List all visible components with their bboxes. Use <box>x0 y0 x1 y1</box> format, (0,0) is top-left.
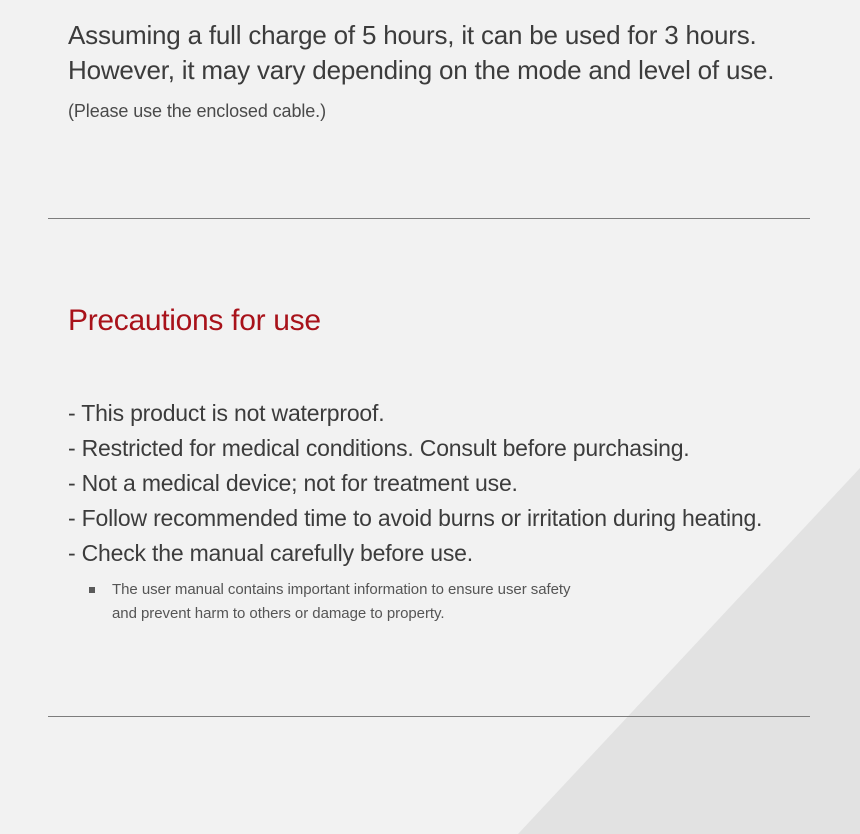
intro-paragraph: Assuming a full charge of 5 hours, it ca… <box>68 18 828 124</box>
list-item: - Check the manual carefully before use. <box>68 536 848 571</box>
list-item: - Follow recommended time to avoid burns… <box>68 501 848 536</box>
intro-note: (Please use the enclosed cable.) <box>68 98 828 124</box>
intro-line-1: Assuming a full charge of 5 hours, it ca… <box>68 18 828 53</box>
manual-page: Assuming a full charge of 5 hours, it ca… <box>0 0 860 834</box>
list-item: - This product is not waterproof. <box>68 396 848 431</box>
subnote-text: The user manual contains important infor… <box>112 578 571 626</box>
intro-line-2: However, it may vary depending on the mo… <box>68 53 828 88</box>
divider-bottom <box>48 716 810 717</box>
divider-top <box>48 218 810 219</box>
subnote-line-1: The user manual contains important infor… <box>112 578 571 602</box>
precaution-list: - This product is not waterproof. - Rest… <box>68 396 848 571</box>
manual-subnote: The user manual contains important infor… <box>89 578 689 626</box>
page-title: Precautions for use <box>68 301 321 341</box>
subnote-line-2: and prevent harm to others or damage to … <box>112 602 571 626</box>
list-item: - Not a medical device; not for treatmen… <box>68 466 848 501</box>
square-bullet-icon <box>89 587 95 593</box>
list-item: - Restricted for medical conditions. Con… <box>68 431 848 466</box>
